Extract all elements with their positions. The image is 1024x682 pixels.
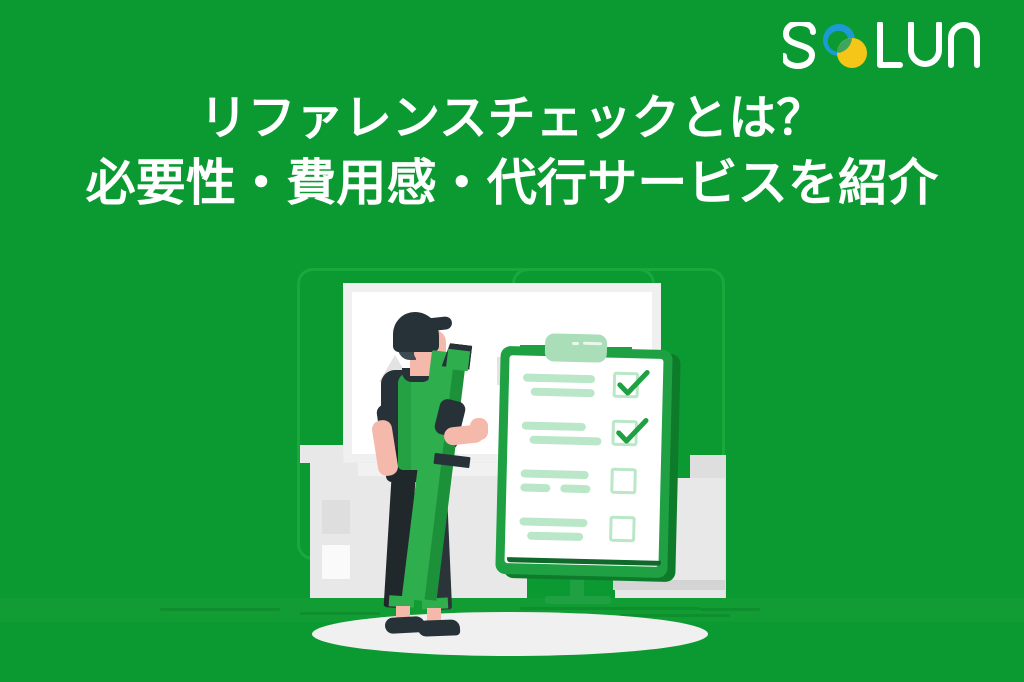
checklist-text-bar: [527, 532, 583, 541]
checklist-text-bar: [523, 373, 595, 383]
checklist-text-bar: [519, 517, 587, 527]
page-title: リファレンスチェックとは？ 必要性・費用感・代行サービスを紹介: [0, 88, 1024, 216]
hand-right: [470, 418, 488, 440]
check-icon: [615, 368, 652, 401]
clipboard-clamp: [545, 333, 608, 363]
checklist-text-bar: [520, 483, 550, 492]
checklist-text-bar: [521, 469, 589, 479]
clamp-highlight: [583, 342, 602, 345]
furniture-drawer-upper: [322, 500, 350, 534]
furniture-drawer-lower: [322, 545, 350, 579]
checkbox-checked[interactable]: [613, 372, 640, 399]
soluna-logo: SOLUNA: [783, 22, 996, 72]
floor-line: [520, 607, 700, 610]
title-line-1: リファレンスチェックとは？: [0, 88, 1024, 150]
checkbox-checked[interactable]: [611, 420, 638, 447]
clamp-bar-right: [604, 347, 632, 355]
ground-shadow: [312, 612, 708, 656]
checklist-text-bar: [522, 421, 586, 431]
shoe-front: [418, 619, 461, 636]
stand-base: [545, 596, 611, 604]
title-line-2: 必要性・費用感・代行サービスを紹介: [0, 150, 1024, 216]
checklist-text-bar: [560, 484, 590, 493]
pen-tip-inner: [446, 349, 470, 372]
checkbox-unchecked[interactable]: [610, 468, 637, 495]
checkbox-unchecked[interactable]: [609, 516, 636, 543]
floor-line: [160, 608, 280, 611]
floor-line: [300, 612, 380, 615]
vest-shadow: [398, 372, 411, 470]
poster-canvas: SOLUNA リファレンスチェックとは？ 必要性・費用感・代行サービスを紹介: [0, 0, 1024, 682]
soluna-logo-mark: [783, 22, 996, 72]
clamp-highlight: [572, 342, 579, 345]
floor-line: [700, 608, 760, 611]
checklist-text-bar: [529, 436, 601, 446]
checklist: [504, 355, 663, 567]
check-icon: [613, 416, 650, 449]
clamp-bar-left: [520, 345, 548, 353]
furniture-right-shelf: [613, 580, 725, 590]
checklist-text-bar: [531, 388, 595, 398]
